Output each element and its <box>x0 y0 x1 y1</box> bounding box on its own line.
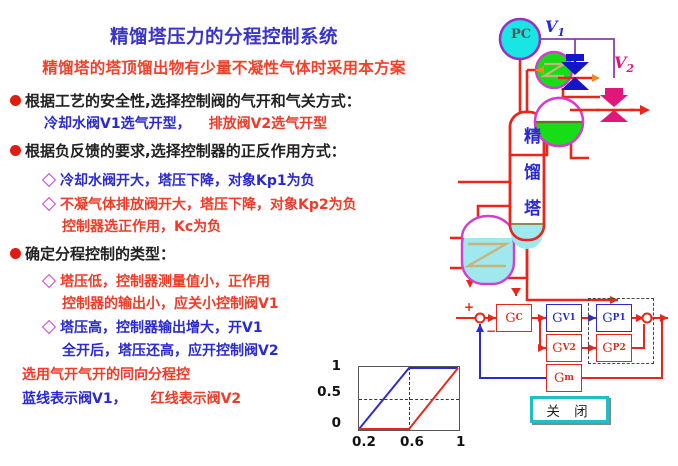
slide-root: 精馏塔压力的分程控制系统 精馏塔的塔顶馏出物有少量不凝性气体时采用本方案 根据工… <box>0 0 678 466</box>
bullet-line-11: 全开后，塔压还高，应开控制阀V2 <box>62 340 279 360</box>
chart-series-v1 <box>359 368 458 429</box>
bullet-text: 冷却水阀开大，塔压下降，对象Kp1为负 <box>60 173 315 189</box>
bullet-text: 不凝气体排放阀开大，塔压下降，对象Kp2为负 <box>60 197 357 213</box>
bullet-dot-icon <box>10 248 21 259</box>
bullet-line-3: 根据负反馈的要求,选择控制器的正反作用方式： <box>10 140 346 161</box>
close-button[interactable]: 关 闭 <box>530 396 609 423</box>
summing-plus-sign: + <box>464 300 474 314</box>
chart-series-v2 <box>359 368 458 429</box>
bullet-line-7: 确定分程控制的类型： <box>10 243 175 264</box>
block-gp2: GP2 <box>596 334 632 362</box>
column-label-char-3: 塔 <box>524 194 541 219</box>
process-diagram: PC V1 V2 精 馏 塔 GC GV1 GP1 GV2 GP2 Gm + −… <box>448 0 678 466</box>
bullet-diamond-icon <box>42 320 56 334</box>
bullet-line-8: 塔压低，控制器测量值小，正作用 <box>44 271 270 291</box>
bullet-line-13: 蓝线表示阀V1，红线表示阀V2 <box>22 388 241 408</box>
bullet-text-red: 排放阀V2选气开型 <box>209 116 328 132</box>
column-label-char-1: 精 <box>524 122 541 147</box>
valve-v2 <box>596 88 634 122</box>
summing-minus-sign: − <box>486 324 496 338</box>
bullet-text-blue: 冷却水阀V1选气开型， <box>44 116 191 132</box>
page-subtitle: 精馏塔的塔顶馏出物有少量不凝性气体时采用本方案 <box>0 56 448 78</box>
bullet-diamond-icon <box>42 173 56 187</box>
legend-blue-text: 蓝线表示阀V1， <box>22 391 127 407</box>
chart-xtick-0.2: 0.2 <box>352 434 376 450</box>
block-gp1: GP1 <box>596 304 632 332</box>
bullet-line-10: 塔压高，控制器输出增大，开V1 <box>44 317 263 337</box>
bullet-diamond-icon <box>42 197 56 211</box>
pc-tag-label: PC <box>511 27 531 42</box>
bullet-line-4: 冷却水阀开大，塔压下降，对象Kp1为负 <box>44 170 315 190</box>
column-label-char-2: 馏 <box>524 158 541 183</box>
chart-ytick-1: 1 <box>301 358 341 374</box>
bullet-diamond-icon <box>42 274 56 288</box>
block-gc: GC <box>496 304 532 332</box>
valve-v2-label: V2 <box>614 53 634 75</box>
summing-junction-left <box>476 314 485 323</box>
bullet-text: 确定分程控制的类型： <box>25 245 175 263</box>
valve-v1-label: V1 <box>545 17 565 39</box>
chart-ytick-0: 0 <box>301 415 341 431</box>
chart-xtick-0.6: 0.6 <box>400 434 424 450</box>
bullet-line-12: 选用气开气开的同向分程控 <box>22 364 190 384</box>
bullet-line-6: 控制器选正作用，Kc为负 <box>62 216 221 236</box>
page-title: 精馏塔压力的分程控制系统 <box>0 23 448 49</box>
chart-series-svg <box>359 367 459 430</box>
bullet-line-2: 冷却水阀V1选气开型，排放阀V2选气开型 <box>44 113 327 133</box>
block-gv1: GV1 <box>546 304 582 332</box>
bullet-line-1: 根据工艺的安全性,选择控制阀的气开和气关方式： <box>10 90 361 111</box>
bullet-text: 根据工艺的安全性,选择控制阀的气开和气关方式： <box>25 92 361 110</box>
chart-ytick-0.5: 0.5 <box>301 384 341 400</box>
bullet-text: 塔压高，控制器输出增大，开V1 <box>60 320 263 336</box>
bullet-text: 塔压低，控制器测量值小，正作用 <box>60 274 270 290</box>
bullet-dot-icon <box>10 95 21 106</box>
legend-red-text: 红线表示阀V2 <box>151 391 242 407</box>
bullet-text: 根据负反馈的要求,选择控制器的正反作用方式： <box>25 142 346 160</box>
block-gv2: GV2 <box>546 334 582 362</box>
bullet-line-9: 控制器的输出小，应关小控制阀V1 <box>62 293 279 313</box>
bullet-dot-icon <box>10 145 21 156</box>
chart-plot-area <box>358 366 460 431</box>
bullet-line-5: 不凝气体排放阀开大，塔压下降，对象Kp2为负 <box>44 194 357 214</box>
block-gm: Gm <box>546 364 582 392</box>
